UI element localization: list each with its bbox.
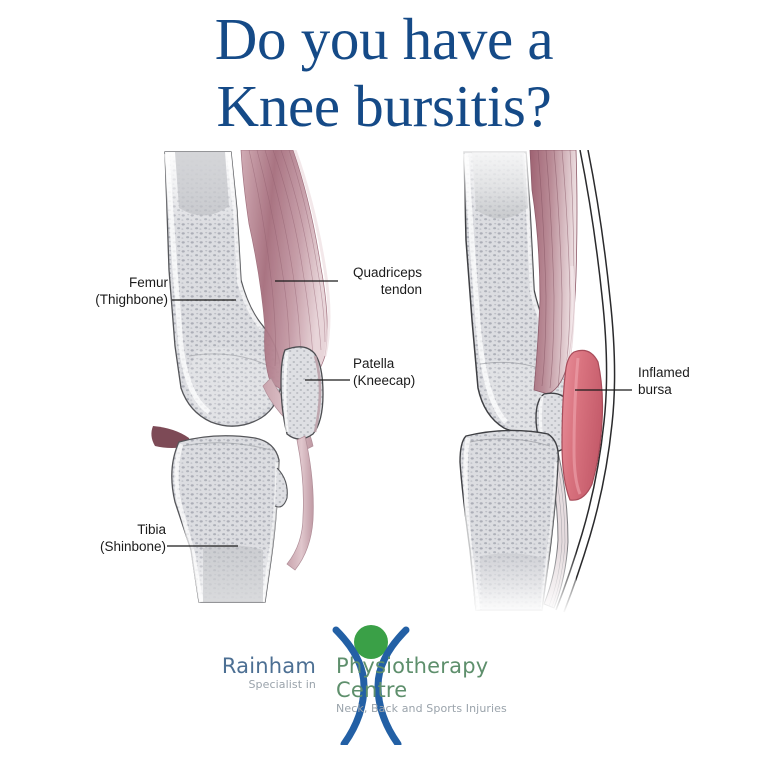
label-patella: Patella (Kneecap) [353, 355, 463, 389]
label-femur: Femur (Thighbone) [40, 274, 168, 308]
label-quadriceps-line2: tendon [330, 281, 422, 298]
label-bursa-line1: Inflamed [638, 364, 748, 381]
tibia-bone [165, 436, 295, 612]
label-inflamed-bursa: Inflamed bursa [638, 364, 748, 398]
brand-tagline: Neck, Back and Sports Injuries [336, 702, 566, 716]
title-line-1: Do you have a [0, 6, 768, 73]
patella-bone [281, 347, 323, 439]
label-femur-line1: Femur [40, 274, 168, 291]
brand-specialist-in: Specialist in [166, 678, 316, 692]
brand-rainham: Rainham [166, 654, 316, 678]
label-tibia-line1: Tibia [38, 521, 166, 538]
label-quadriceps-line1: Quadriceps [330, 264, 422, 281]
label-patella-line2: (Kneecap) [353, 372, 463, 389]
logo-block: Rainham Specialist in Physiotherapy Cent… [0, 620, 768, 750]
poster-root: Do you have a Knee bursitis? [0, 0, 768, 768]
label-bursa-line2: bursa [638, 381, 748, 398]
label-patella-line1: Patella [353, 355, 463, 372]
patellar-tendon [287, 436, 313, 570]
label-quadriceps-tendon: Quadriceps tendon [330, 264, 422, 298]
label-tibia: Tibia (Shinbone) [38, 521, 166, 555]
left-knee-diagram [151, 150, 329, 612]
label-femur-line2: (Thighbone) [40, 291, 168, 308]
logo-text-right: Physiotherapy Centre Neck, Back and Spor… [336, 654, 566, 716]
logo-text-left: Rainham Specialist in [166, 654, 316, 692]
title-line-2: Knee bursitis? [0, 73, 768, 140]
brand-physiotherapy-centre: Physiotherapy Centre [336, 654, 566, 702]
right-knee-diagram [454, 150, 615, 614]
label-tibia-line2: (Shinbone) [38, 538, 166, 555]
page-title: Do you have a Knee bursitis? [0, 6, 768, 140]
